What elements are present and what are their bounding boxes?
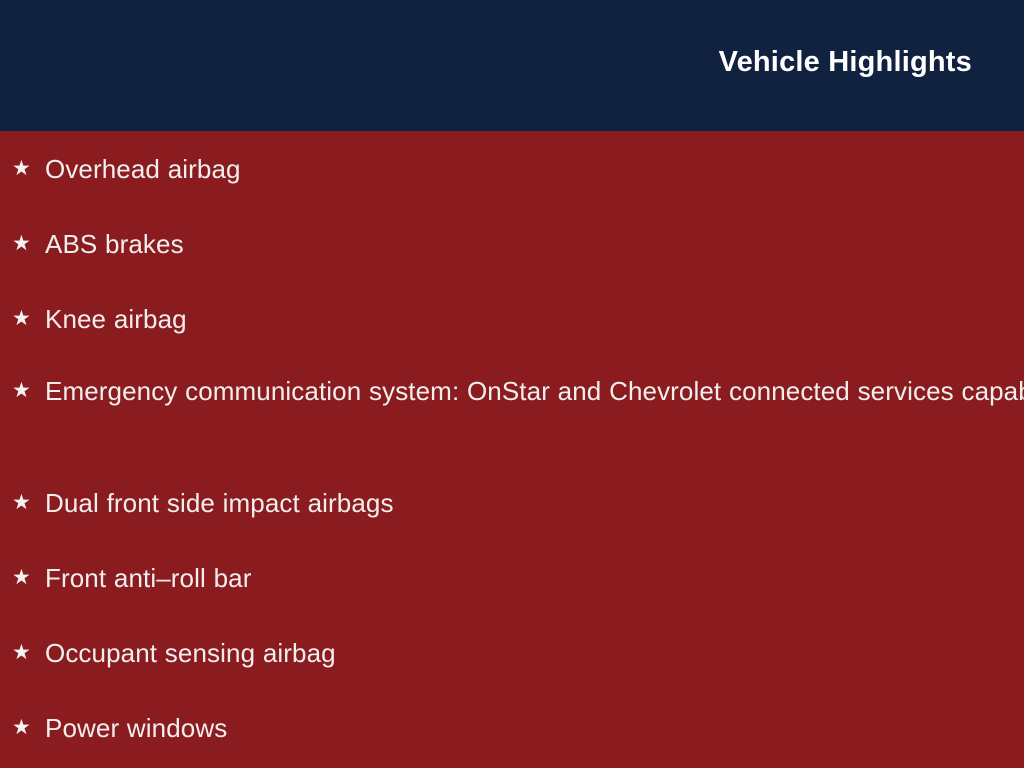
highlights-content-area: ★Overhead airbag★ABS brakes★Knee airbag★… xyxy=(0,131,1024,768)
list-item: ★Overhead airbag xyxy=(0,149,1024,189)
star-icon: ★ xyxy=(12,708,34,748)
list-item-label: Overhead airbag xyxy=(45,149,1024,189)
list-item: ★Dual front side impact airbags xyxy=(0,483,1024,523)
star-icon: ★ xyxy=(12,483,34,523)
list-item-label: Occupant sensing airbag xyxy=(45,633,1024,673)
list-item: ★Power windows xyxy=(0,708,1024,748)
star-icon: ★ xyxy=(12,558,34,598)
list-item-label: Emergency communication system: OnStar a… xyxy=(45,371,1024,411)
list-item: ★Knee airbag xyxy=(0,299,1024,339)
star-icon: ★ xyxy=(12,149,34,189)
list-item-label: Front anti–roll bar xyxy=(45,558,1024,598)
list-item: ★Front anti–roll bar xyxy=(0,558,1024,598)
list-item: ★Emergency communication system: OnStar … xyxy=(0,371,1024,411)
list-item-label: ABS brakes xyxy=(45,224,1024,264)
vehicle-highlights-slide: Vehicle Highlights ★Overhead airbag★ABS … xyxy=(0,0,1024,768)
list-item: ★ABS brakes xyxy=(0,224,1024,264)
list-item-label: Power windows xyxy=(45,708,1024,748)
page-title: Vehicle Highlights xyxy=(719,45,972,79)
list-item: ★Occupant sensing airbag xyxy=(0,633,1024,673)
star-icon: ★ xyxy=(12,633,34,673)
star-icon: ★ xyxy=(12,371,34,411)
list-item-label: Dual front side impact airbags xyxy=(45,483,1024,523)
star-icon: ★ xyxy=(12,224,34,264)
header-bar: Vehicle Highlights xyxy=(0,0,1024,131)
star-icon: ★ xyxy=(12,299,34,339)
list-item-label: Knee airbag xyxy=(45,299,1024,339)
